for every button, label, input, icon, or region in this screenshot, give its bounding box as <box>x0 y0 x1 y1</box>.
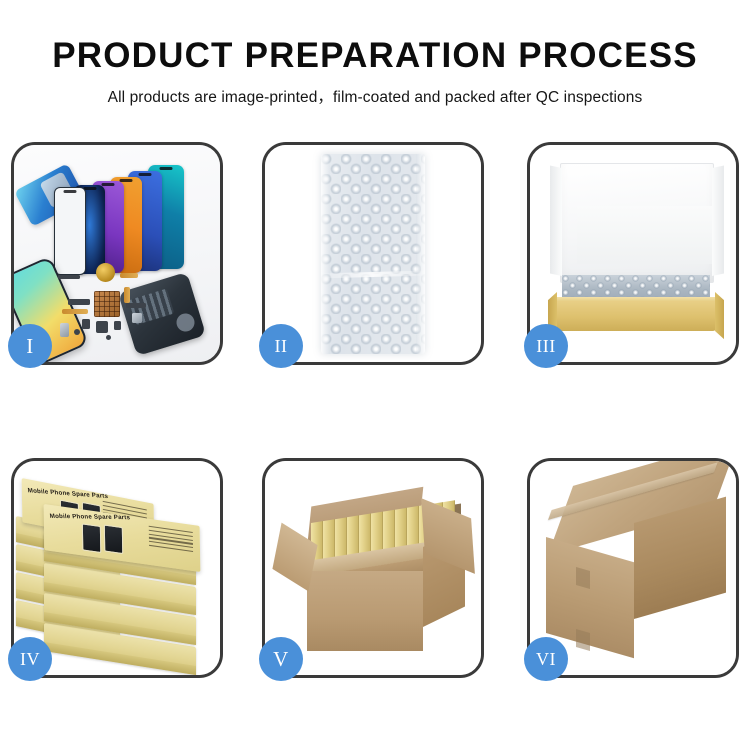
sealed-shipping-carton <box>544 493 730 657</box>
bubble-wrap-pouch <box>321 154 425 354</box>
process-step-panel-v[interactable]: V <box>262 458 484 678</box>
phone-artwork-icon <box>82 523 101 553</box>
part-flex-cable <box>120 273 138 278</box>
carton-front-face <box>546 537 634 658</box>
step-badge-vi: VI <box>524 637 568 681</box>
notch-icon <box>102 183 115 186</box>
box-side <box>44 642 196 675</box>
shield-mesh-part-icon <box>94 291 120 317</box>
part-screw <box>74 329 80 335</box>
part-connector <box>58 275 80 279</box>
notch-icon <box>120 179 133 182</box>
part-button <box>132 313 142 323</box>
notch-icon <box>160 167 173 170</box>
pouch-edge-right <box>416 154 425 354</box>
step-v-image <box>265 461 481 675</box>
phone-lineup <box>66 163 216 278</box>
open-shipping-carton <box>281 487 473 665</box>
step-badge-v: V <box>259 637 303 681</box>
open-carton-scene <box>265 461 481 675</box>
part-camera-module <box>96 321 108 333</box>
step-badge-ii: II <box>259 324 303 368</box>
process-step-grid: I II <box>0 0 750 750</box>
part-flex-cable <box>124 287 130 303</box>
part-sim-tray <box>60 323 69 337</box>
box-lid-label: Mobile Phone Spare Parts <box>27 487 108 500</box>
part-screw-set <box>114 321 121 330</box>
phone-screen-glass <box>54 187 86 275</box>
process-step-panel-vi[interactable]: VI <box>527 458 739 678</box>
bubble-wrap-scene <box>265 145 481 362</box>
carton-handle-tab <box>576 629 590 651</box>
step-ii-image <box>265 145 481 362</box>
notch-icon <box>64 190 77 193</box>
process-step-panel-iii[interactable]: III <box>527 142 739 365</box>
part-chip <box>82 319 90 329</box>
process-step-panel-i[interactable]: I <box>11 142 223 365</box>
box-lid-white <box>560 163 714 283</box>
box-spec-lines <box>149 526 193 560</box>
notch-icon <box>139 173 152 176</box>
part-bracket <box>68 299 90 305</box>
bubble-texture <box>321 154 425 354</box>
step-badge-iii: III <box>524 324 568 368</box>
open-flat-box <box>548 163 724 343</box>
step-badge-iv: IV <box>8 637 52 681</box>
process-step-panel-ii[interactable]: II <box>262 142 484 365</box>
pouch-edge-left <box>321 154 330 354</box>
part-screw <box>106 335 111 340</box>
carton-handle-tab <box>576 567 590 589</box>
box-lid-label: Mobile Phone Spare Parts <box>49 513 130 522</box>
part-bracket <box>126 303 146 308</box>
process-step-panel-iv[interactable]: Mobile Phone Spare Parts <box>11 458 223 678</box>
box-base-kraft <box>556 301 716 331</box>
step-badge-i: I <box>8 324 52 368</box>
box-stack: Mobile Phone Spare Parts <box>14 471 220 671</box>
carton-front-face <box>307 571 423 651</box>
spare-parts-group <box>58 263 198 353</box>
speaker-part-icon <box>96 263 115 282</box>
box-foam-liner <box>577 206 721 264</box>
part-flex-cable <box>62 309 88 314</box>
phone-artwork-icon <box>104 524 123 554</box>
